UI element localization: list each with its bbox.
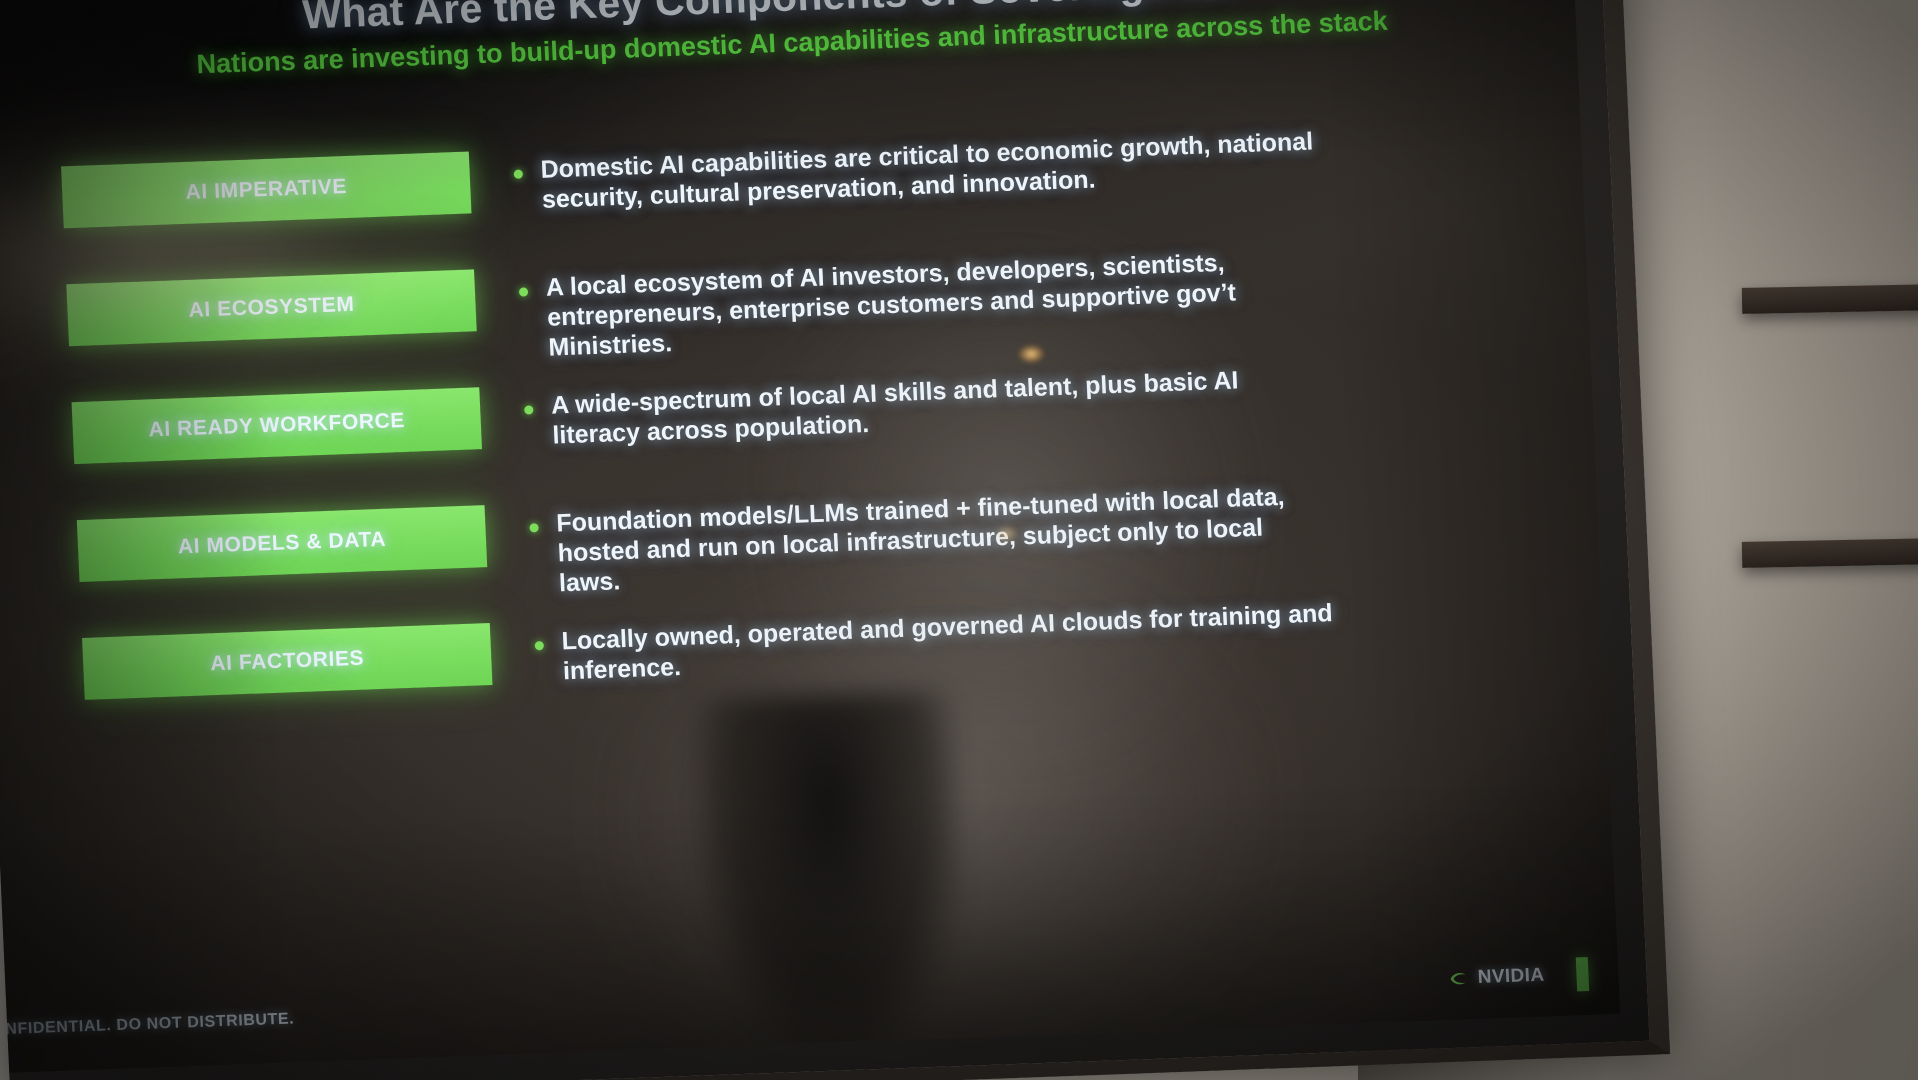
confidential-notice: NFIDENTIAL. DO NOT DISTRIBUTE. <box>5 1010 295 1039</box>
display-screen: What Are the Key Components of Sovereign… <box>0 0 1620 1073</box>
nvidia-eye-icon <box>1448 970 1471 987</box>
pill-label: AI ECOSYSTEM <box>188 293 355 323</box>
nvidia-green-bar <box>1576 957 1590 991</box>
bullet-ai-ecosystem: A local ecosystem of AI investors, devel… <box>518 244 1321 363</box>
bullet-text: Domestic AI capabilities are critical to… <box>540 127 1315 215</box>
bullet-dot-icon <box>519 287 528 296</box>
display-panel: What Are the Key Components of Sovereign… <box>0 0 1670 1080</box>
pill-label: AI MODELS & DATA <box>177 528 386 560</box>
slide-content: What Are the Key Components of Sovereign… <box>0 0 1620 1073</box>
bullet-dot-icon <box>529 523 538 532</box>
bullet-dot-icon <box>514 170 523 179</box>
wall-shelf-upper <box>1742 284 1918 314</box>
nvidia-wordmark: NVIDIA <box>1477 965 1545 989</box>
pill-label: AI READY WORKFORCE <box>148 409 405 442</box>
bullet-dot-icon <box>524 405 533 414</box>
pill-label: AI FACTORIES <box>210 647 365 677</box>
bullet-text: A local ecosystem of AI investors, devel… <box>545 244 1322 362</box>
bullet-ai-models-and-data: Foundation models/LLMs trained + fine-tu… <box>529 480 1332 599</box>
component-rows: AI IMPERATIVE Domestic AI capabilities a… <box>61 115 1486 756</box>
bullet-text: Foundation models/LLMs trained + fine-tu… <box>556 480 1333 598</box>
bullet-dot-icon <box>535 641 544 650</box>
bullet-ai-imperative: Domestic AI capabilities are critical to… <box>513 127 1315 216</box>
pill-label: AI IMPERATIVE <box>185 175 347 205</box>
wall-shelf-lower <box>1742 538 1918 568</box>
nvidia-logo: NVIDIA <box>1448 965 1545 990</box>
pill-ai-imperative[interactable]: AI IMPERATIVE <box>61 151 471 228</box>
photo-of-presentation-screen: What Are the Key Components of Sovereign… <box>0 0 1918 1080</box>
